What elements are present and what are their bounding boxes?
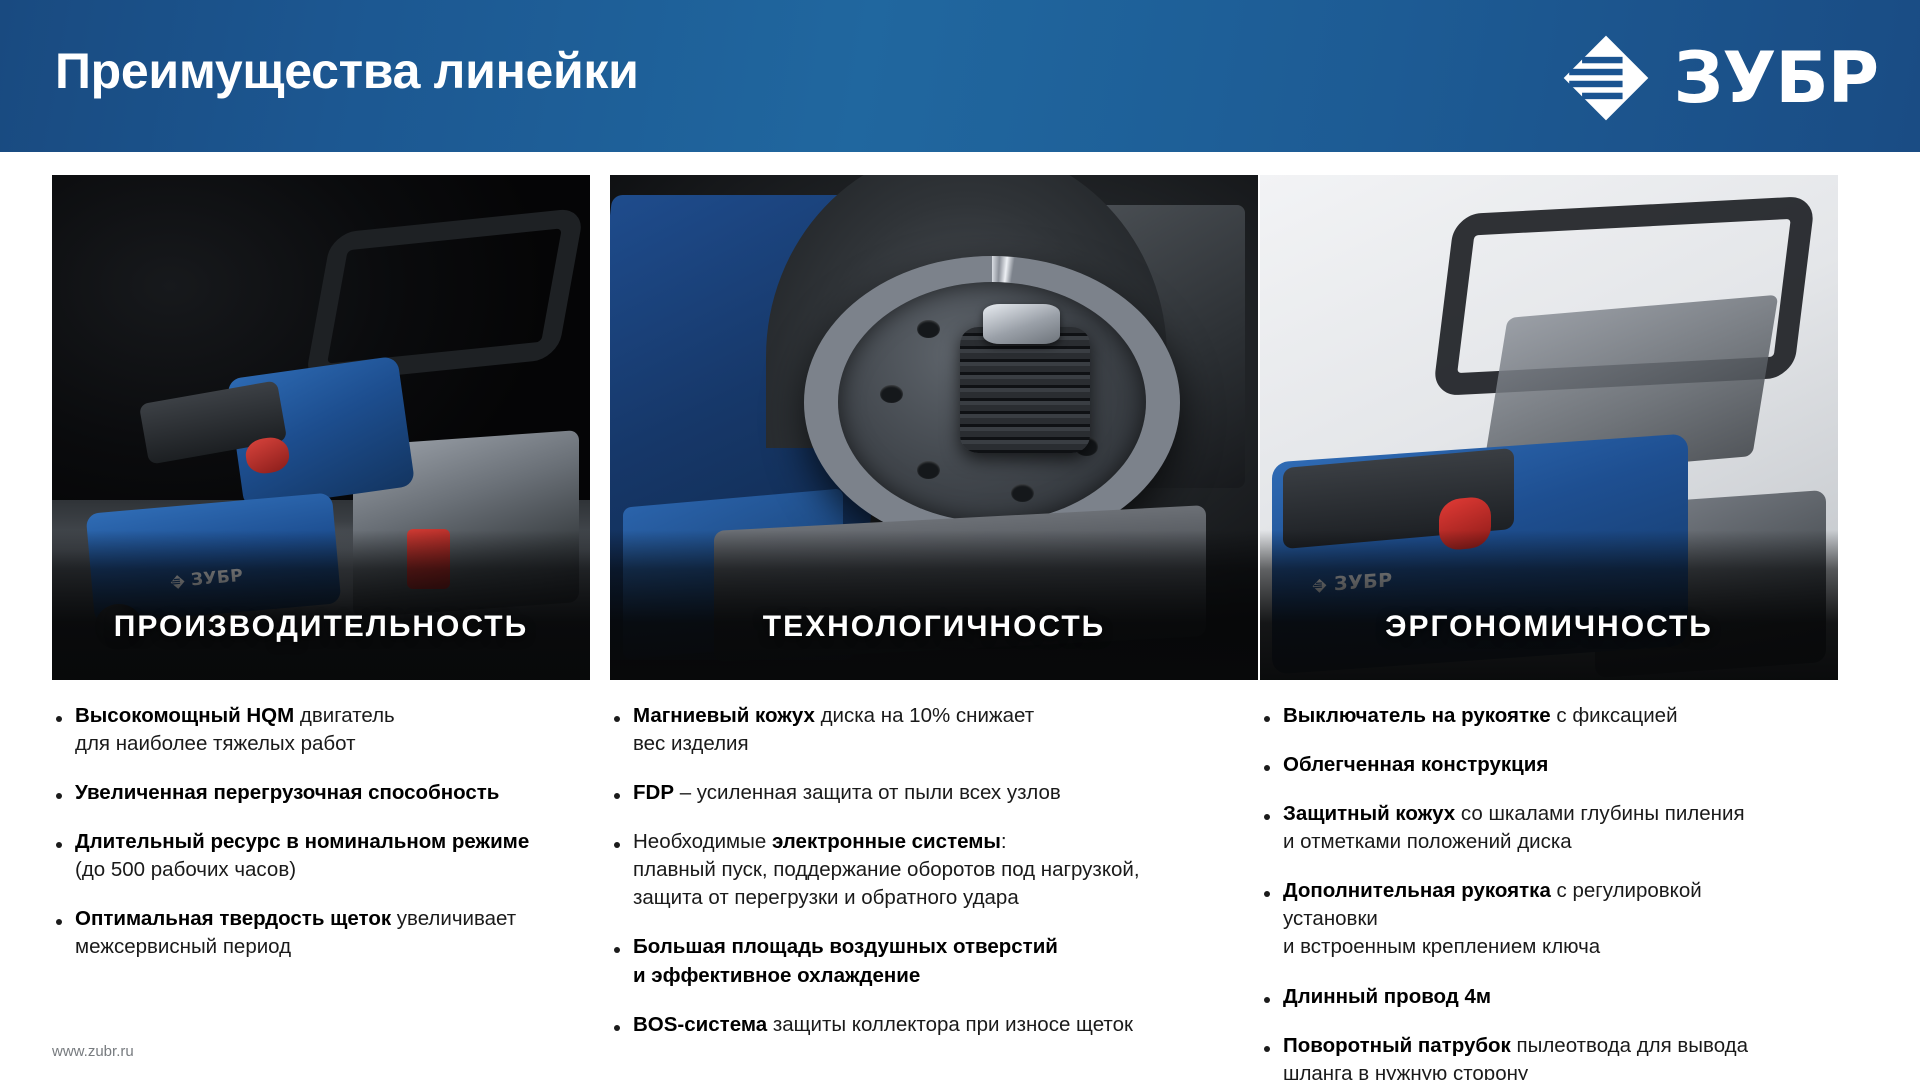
bullet-dot-icon (614, 793, 620, 799)
bullet-text: Поворотный патрубок пылеотвода для вывод… (1283, 1032, 1748, 1080)
list-item: Большая площадь воздушных отверстийи эфф… (610, 933, 1260, 989)
caption-performance: ПРОИЗВОДИТЕЛЬНОСТЬ (114, 566, 528, 644)
bullet-text: Длительный ресурс в номинальном режиме(д… (75, 828, 529, 884)
bullet-text: Магниевый кожух диска на 10% снижаетвес … (633, 702, 1034, 758)
caption-ergonomics: ЭРГОНОМИЧНОСТЬ (1385, 566, 1713, 644)
bullet-dot-icon (56, 793, 62, 799)
list-item: Необходимые электронные системы:плавный … (610, 828, 1260, 912)
bullet-text: FDP – усиленная защита от пыли всех узло… (633, 779, 1061, 807)
column-ergonomics: ЗУБР ЭРГОНОМИЧНОСТЬ Выключатель на рукоя… (1260, 175, 1920, 1080)
bullet-dot-icon (614, 947, 620, 953)
bullet-text: Защитный кожух со шкалами глубины пилени… (1283, 800, 1745, 856)
bullet-text: Оптимальная твердость щеток увеличиваетм… (75, 905, 516, 961)
list-item: Защитный кожух со шкалами глубины пилени… (1260, 800, 1920, 856)
bullet-dot-icon (1264, 716, 1270, 722)
list-item: Длинный провод 4м (1260, 983, 1920, 1011)
list-item: BOS-система защиты коллектора при износе… (610, 1011, 1260, 1039)
list-item: Высокомощный HQM двигательдля наиболее т… (52, 702, 600, 758)
bullet-dot-icon (614, 716, 620, 722)
list-item: Дополнительная рукоятка с регулировкой у… (1260, 877, 1920, 961)
zubr-diamond-icon (1560, 32, 1652, 124)
list-item: FDP – усиленная защита от пыли всех узло… (610, 779, 1260, 807)
bullet-text: Дополнительная рукоятка с регулировкой у… (1283, 877, 1783, 961)
bullet-dot-icon (1264, 891, 1270, 897)
slide: Преимущества линейки ЗУБР (0, 0, 1920, 1080)
bullet-text: Длинный провод 4м (1283, 983, 1491, 1011)
bullet-text: Увеличенная перегрузочная способность (75, 779, 499, 807)
brand-logo: ЗУБР (1560, 32, 1878, 124)
bullet-text: Облегченная конструкция (1283, 751, 1548, 779)
product-image-ergonomics: ЗУБР ЭРГОНОМИЧНОСТЬ (1260, 175, 1838, 680)
bullet-list-technology: Магниевый кожух диска на 10% снижаетвес … (610, 702, 1260, 1039)
page-title: Преимущества линейки (55, 42, 639, 100)
bullet-dot-icon (1264, 997, 1270, 1003)
bullet-dot-icon (56, 716, 62, 722)
bullet-text: Выключатель на рукоятке с фиксацией (1283, 702, 1678, 730)
bullet-dot-icon (1264, 765, 1270, 771)
list-item: Магниевый кожух диска на 10% снижаетвес … (610, 702, 1260, 758)
caption-overlay-ergonomics: ЭРГОНОМИЧНОСТЬ (1260, 530, 1838, 680)
column-performance: ЗУБР ПРОИЗВОДИТЕЛЬНОСТЬ Высокомощный HQM… (0, 175, 600, 1080)
product-image-performance: ЗУБР ПРОИЗВОДИТЕЛЬНОСТЬ (52, 175, 590, 680)
bullet-text: BOS-система защиты коллектора при износе… (633, 1011, 1133, 1039)
list-item: Длительный ресурс в номинальном режиме(д… (52, 828, 600, 884)
bullet-dot-icon (614, 842, 620, 848)
caption-technology: ТЕХНОЛОГИЧНОСТЬ (763, 566, 1105, 644)
bullet-text: Необходимые электронные системы:плавный … (633, 828, 1140, 912)
list-item: Увеличенная перегрузочная способность (52, 779, 600, 807)
list-item: Поворотный патрубок пылеотвода для вывод… (1260, 1032, 1920, 1080)
list-item: Облегченная конструкция (1260, 751, 1920, 779)
bullet-text: Высокомощный HQM двигательдля наиболее т… (75, 702, 395, 758)
bullet-dot-icon (1264, 1046, 1270, 1052)
bullet-dot-icon (1264, 814, 1270, 820)
list-item: Выключатель на рукоятке с фиксацией (1260, 702, 1920, 730)
bullet-dot-icon (56, 919, 62, 925)
content-columns: ЗУБР ПРОИЗВОДИТЕЛЬНОСТЬ Высокомощный HQM… (0, 175, 1920, 1080)
bullet-list-performance: Высокомощный HQM двигательдля наиболее т… (52, 702, 600, 962)
brand-wordmark: ЗУБР (1674, 43, 1878, 113)
product-image-technology: ТЕХНОЛОГИЧНОСТЬ (610, 175, 1258, 680)
list-item: Оптимальная твердость щеток увеличиваетм… (52, 905, 600, 961)
bullet-text: Большая площадь воздушных отверстийи эфф… (633, 933, 1058, 989)
page-header: Преимущества линейки ЗУБР (0, 0, 1920, 152)
caption-overlay-technology: ТЕХНОЛОГИЧНОСТЬ (610, 530, 1258, 680)
column-technology: ТЕХНОЛОГИЧНОСТЬ Магниевый кожух диска на… (600, 175, 1260, 1080)
bullet-dot-icon (614, 1025, 620, 1031)
bullet-dot-icon (56, 842, 62, 848)
caption-overlay-performance: ПРОИЗВОДИТЕЛЬНОСТЬ (52, 530, 590, 680)
bullet-list-ergonomics: Выключатель на рукоятке с фиксацией Обле… (1260, 702, 1920, 1080)
footer-url: www.zubr.ru (52, 1043, 134, 1060)
